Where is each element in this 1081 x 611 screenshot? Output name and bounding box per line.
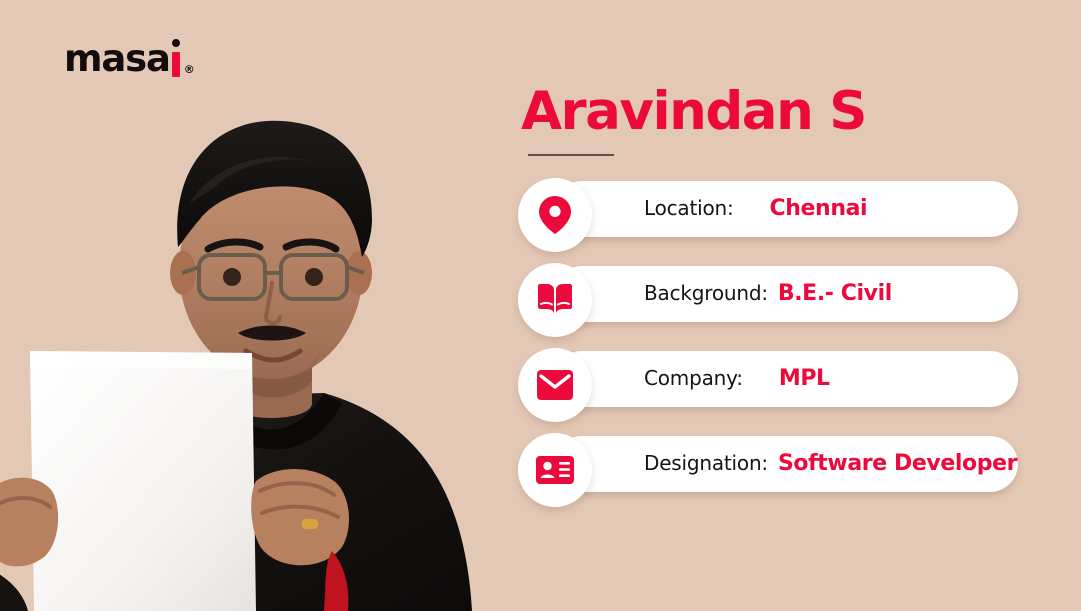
profile-photo (0, 51, 542, 611)
detail-text-company: Company: MPL (644, 366, 830, 391)
detail-label-designation: Designation: (644, 451, 768, 475)
id-card-glyph (535, 455, 575, 485)
detail-label-company: Company: (644, 366, 743, 390)
detail-value-location: Chennai (770, 196, 868, 221)
detail-value-company: MPL (779, 366, 830, 391)
info-panel: Aravindan S Location: Chennai (518, 84, 1038, 518)
detail-label-background: Background: (644, 281, 768, 305)
detail-text-location: Location: Chennai (644, 196, 867, 221)
detail-row-designation[interactable]: Designation: Software Developer (518, 433, 1038, 495)
open-book-icon (518, 263, 592, 337)
detail-label-location: Location: (644, 196, 734, 220)
detail-pill-designation: Designation: Software Developer (554, 436, 1018, 492)
detail-text-background: Background: B.E.- Civil (644, 281, 892, 306)
profile-card: masa ® (0, 0, 1081, 611)
logo-i-dot (172, 39, 180, 47)
photo-illustration (0, 51, 542, 611)
detail-value-background: B.E.- Civil (778, 281, 892, 306)
person-name: Aravindan S (521, 84, 1038, 140)
detail-value-designation: Software Developer (778, 451, 1017, 476)
detail-row-background[interactable]: Background: B.E.- Civil (518, 263, 1038, 325)
detail-row-company[interactable]: Company: MPL (518, 348, 1038, 410)
id-card-icon (518, 433, 592, 507)
detail-pill-location: Location: Chennai (554, 181, 1018, 237)
name-divider (528, 154, 614, 156)
location-pin-icon (518, 178, 592, 252)
location-pin-glyph (538, 195, 572, 235)
detail-text-designation: Designation: Software Developer (644, 451, 1017, 476)
detail-pill-company: Company: MPL (554, 351, 1018, 407)
detail-rows: Location: Chennai Background: B.E.- (518, 178, 1038, 495)
open-book-glyph (535, 283, 575, 317)
detail-pill-background: Background: B.E.- Civil (554, 266, 1018, 322)
envelope-glyph (536, 369, 574, 401)
detail-row-location[interactable]: Location: Chennai (518, 178, 1038, 240)
envelope-icon (518, 348, 592, 422)
